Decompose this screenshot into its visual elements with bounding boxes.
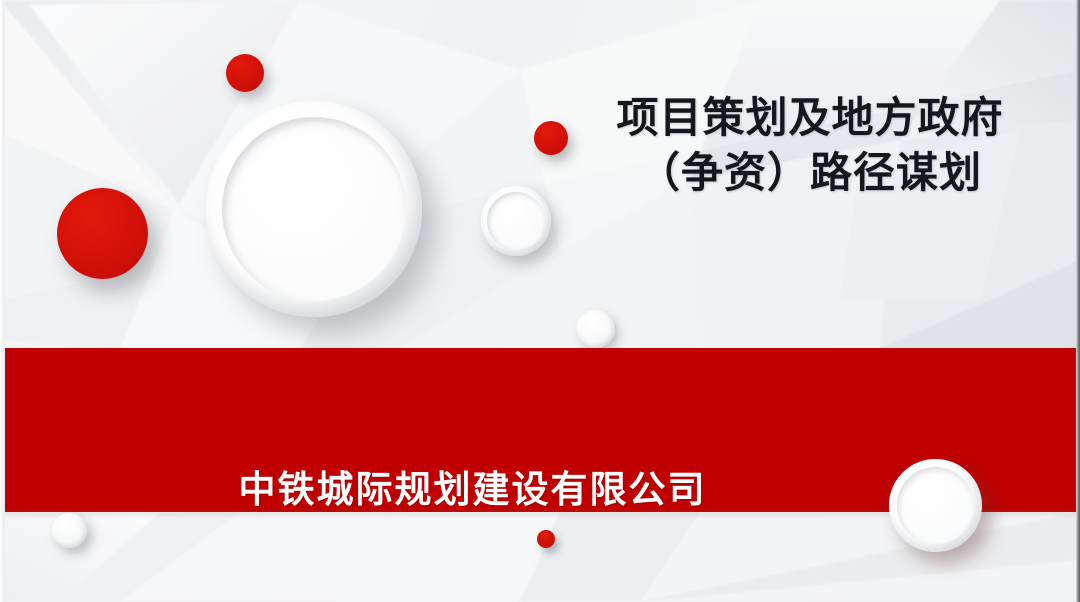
disc-bottom-left-white-circle — [52, 513, 87, 548]
title-line-2: （争资）路径谋划 — [560, 147, 1060, 202]
ring-large-white-circle — [206, 101, 422, 317]
disc-medium-inner — [487, 192, 545, 250]
disc-small-white-circle — [577, 310, 615, 348]
title-line-1: 项目策划及地方政府 — [560, 92, 1060, 147]
slide-title: 项目策划及地方政府 （争资）路径谋划 — [560, 92, 1060, 203]
dot-left-large-red-circle — [57, 188, 148, 279]
disc-medium-white-circle — [481, 186, 551, 256]
ring-large-inner — [222, 117, 406, 301]
slide-right-edge — [1076, 0, 1080, 602]
dot-bottom-small-red-circle — [537, 530, 555, 548]
title-slide: 项目策划及地方政府 （争资）路径谋划 中铁城际规划建设有限公司 — [0, 0, 1080, 602]
company-name: 中铁城际规划建设有限公司 — [0, 459, 945, 513]
slide-left-edge — [0, 0, 5, 602]
dot-top-red-circle — [226, 54, 264, 92]
